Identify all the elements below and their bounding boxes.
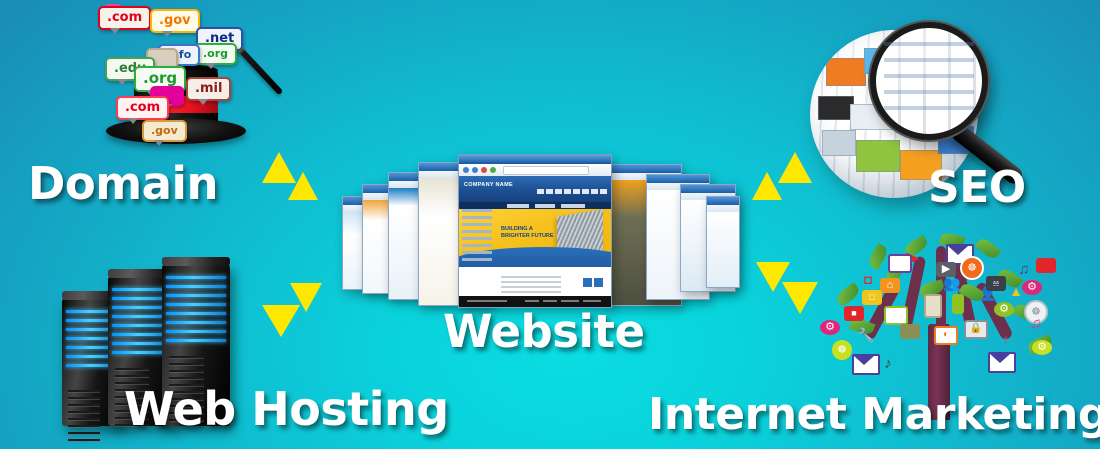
domain-tag: .mil xyxy=(186,77,231,101)
seo-caption: SEO xyxy=(928,162,1026,213)
browser-window xyxy=(706,196,740,288)
tree-leaf xyxy=(866,243,889,270)
gear-icon: ⚙ xyxy=(994,302,1014,317)
globe-icon: ☸ xyxy=(960,256,984,280)
forward-icon[interactable] xyxy=(472,167,478,173)
domain-caption: Domain xyxy=(28,157,218,210)
domain-tag: .gov xyxy=(142,120,187,142)
lens-site-row xyxy=(884,58,974,62)
browser-content xyxy=(707,212,739,287)
globe-icon: ☸ xyxy=(832,340,852,360)
wifi-icon: ◘ xyxy=(858,272,878,287)
tower-icon: ▲ xyxy=(1006,284,1026,299)
magic-wand-icon xyxy=(234,43,283,95)
monitor-icon xyxy=(888,254,912,273)
web-hosting-caption: Web Hosting xyxy=(124,382,449,436)
stop-icon[interactable] xyxy=(481,167,487,173)
browser-titlebar xyxy=(647,175,709,183)
lens-site-row xyxy=(884,42,974,46)
site-header: COMPANY NAME xyxy=(459,176,611,202)
document-icon: □ xyxy=(862,290,882,305)
site-thumbnail xyxy=(856,140,900,172)
lens-site-row xyxy=(884,106,974,110)
phone-icon xyxy=(924,294,942,318)
gear-icon: ⚙ xyxy=(820,320,840,335)
rss-icon: ◐ xyxy=(934,326,958,345)
slogan-line-1: BUILDING A xyxy=(501,226,533,232)
keyboard-icon: ⎂ xyxy=(986,276,1006,291)
gear-icon: ⚙ xyxy=(1032,340,1052,355)
address-bar[interactable] xyxy=(503,166,589,175)
envelope-icon xyxy=(988,352,1016,373)
site-thumbnail xyxy=(818,96,854,120)
domain-tag: .org xyxy=(194,43,237,65)
lock-icon: 🔒 xyxy=(964,320,988,339)
browser-titlebar xyxy=(707,197,739,205)
browser-titlebar xyxy=(607,165,681,173)
site-thumbnail xyxy=(826,58,866,86)
slogan-line-2: BRIGHTER FUTURE xyxy=(501,233,554,239)
users-icon: 👥 xyxy=(942,276,962,291)
server-vents xyxy=(68,390,100,446)
domain-tag: .com xyxy=(98,6,151,30)
chart-icon: ↑ xyxy=(996,332,1016,347)
music-note-icon: ♫ xyxy=(1026,316,1046,331)
browser-titlebar xyxy=(681,185,735,193)
featured-browser-window: COMPANY NAME BUILDING A BRIGHTER FUTURE xyxy=(458,154,612,308)
refresh-icon[interactable] xyxy=(490,167,496,173)
website-caption: Website xyxy=(443,305,645,358)
web-services-banner: .com .gov .net .org Info .edu .org .mil … xyxy=(0,0,1100,449)
site-company-name: COMPANY NAME xyxy=(464,182,513,188)
home-icon: ⌂ xyxy=(880,278,900,293)
triangle-icon xyxy=(290,283,322,312)
camera-icon: ■ xyxy=(844,306,864,321)
domain-tag: .gov xyxy=(150,9,200,33)
monitor-icon xyxy=(884,306,908,325)
site-subnav xyxy=(459,202,611,209)
music-note-icon: ♪ xyxy=(878,356,898,371)
site-slogan: BUILDING A BRIGHTER FUTURE xyxy=(501,226,554,240)
music-note-icon: ♫ xyxy=(1014,262,1034,277)
browser-titlebar xyxy=(459,155,611,164)
phone-icon xyxy=(952,294,964,314)
lens-site-row xyxy=(884,90,974,94)
magnifying-glass-icon xyxy=(870,22,988,140)
server-rack-top xyxy=(162,257,230,266)
browser-content: COMPANY NAME BUILDING A BRIGHTER FUTURE xyxy=(459,176,611,307)
site-nav xyxy=(535,181,607,199)
book-icon xyxy=(1036,258,1056,273)
wrench-icon: 🔧 xyxy=(856,328,876,343)
server-led-strip xyxy=(166,276,226,340)
domain-tag: .com xyxy=(116,96,169,120)
internet-marketing-caption: Internet Marketing xyxy=(648,389,1100,440)
folder-icon xyxy=(900,324,920,339)
back-icon[interactable] xyxy=(463,167,469,173)
site-sidebar-menu xyxy=(459,209,495,265)
envelope-icon xyxy=(852,354,880,375)
site-thumbnail xyxy=(822,130,856,156)
lens-site-row xyxy=(884,74,974,78)
